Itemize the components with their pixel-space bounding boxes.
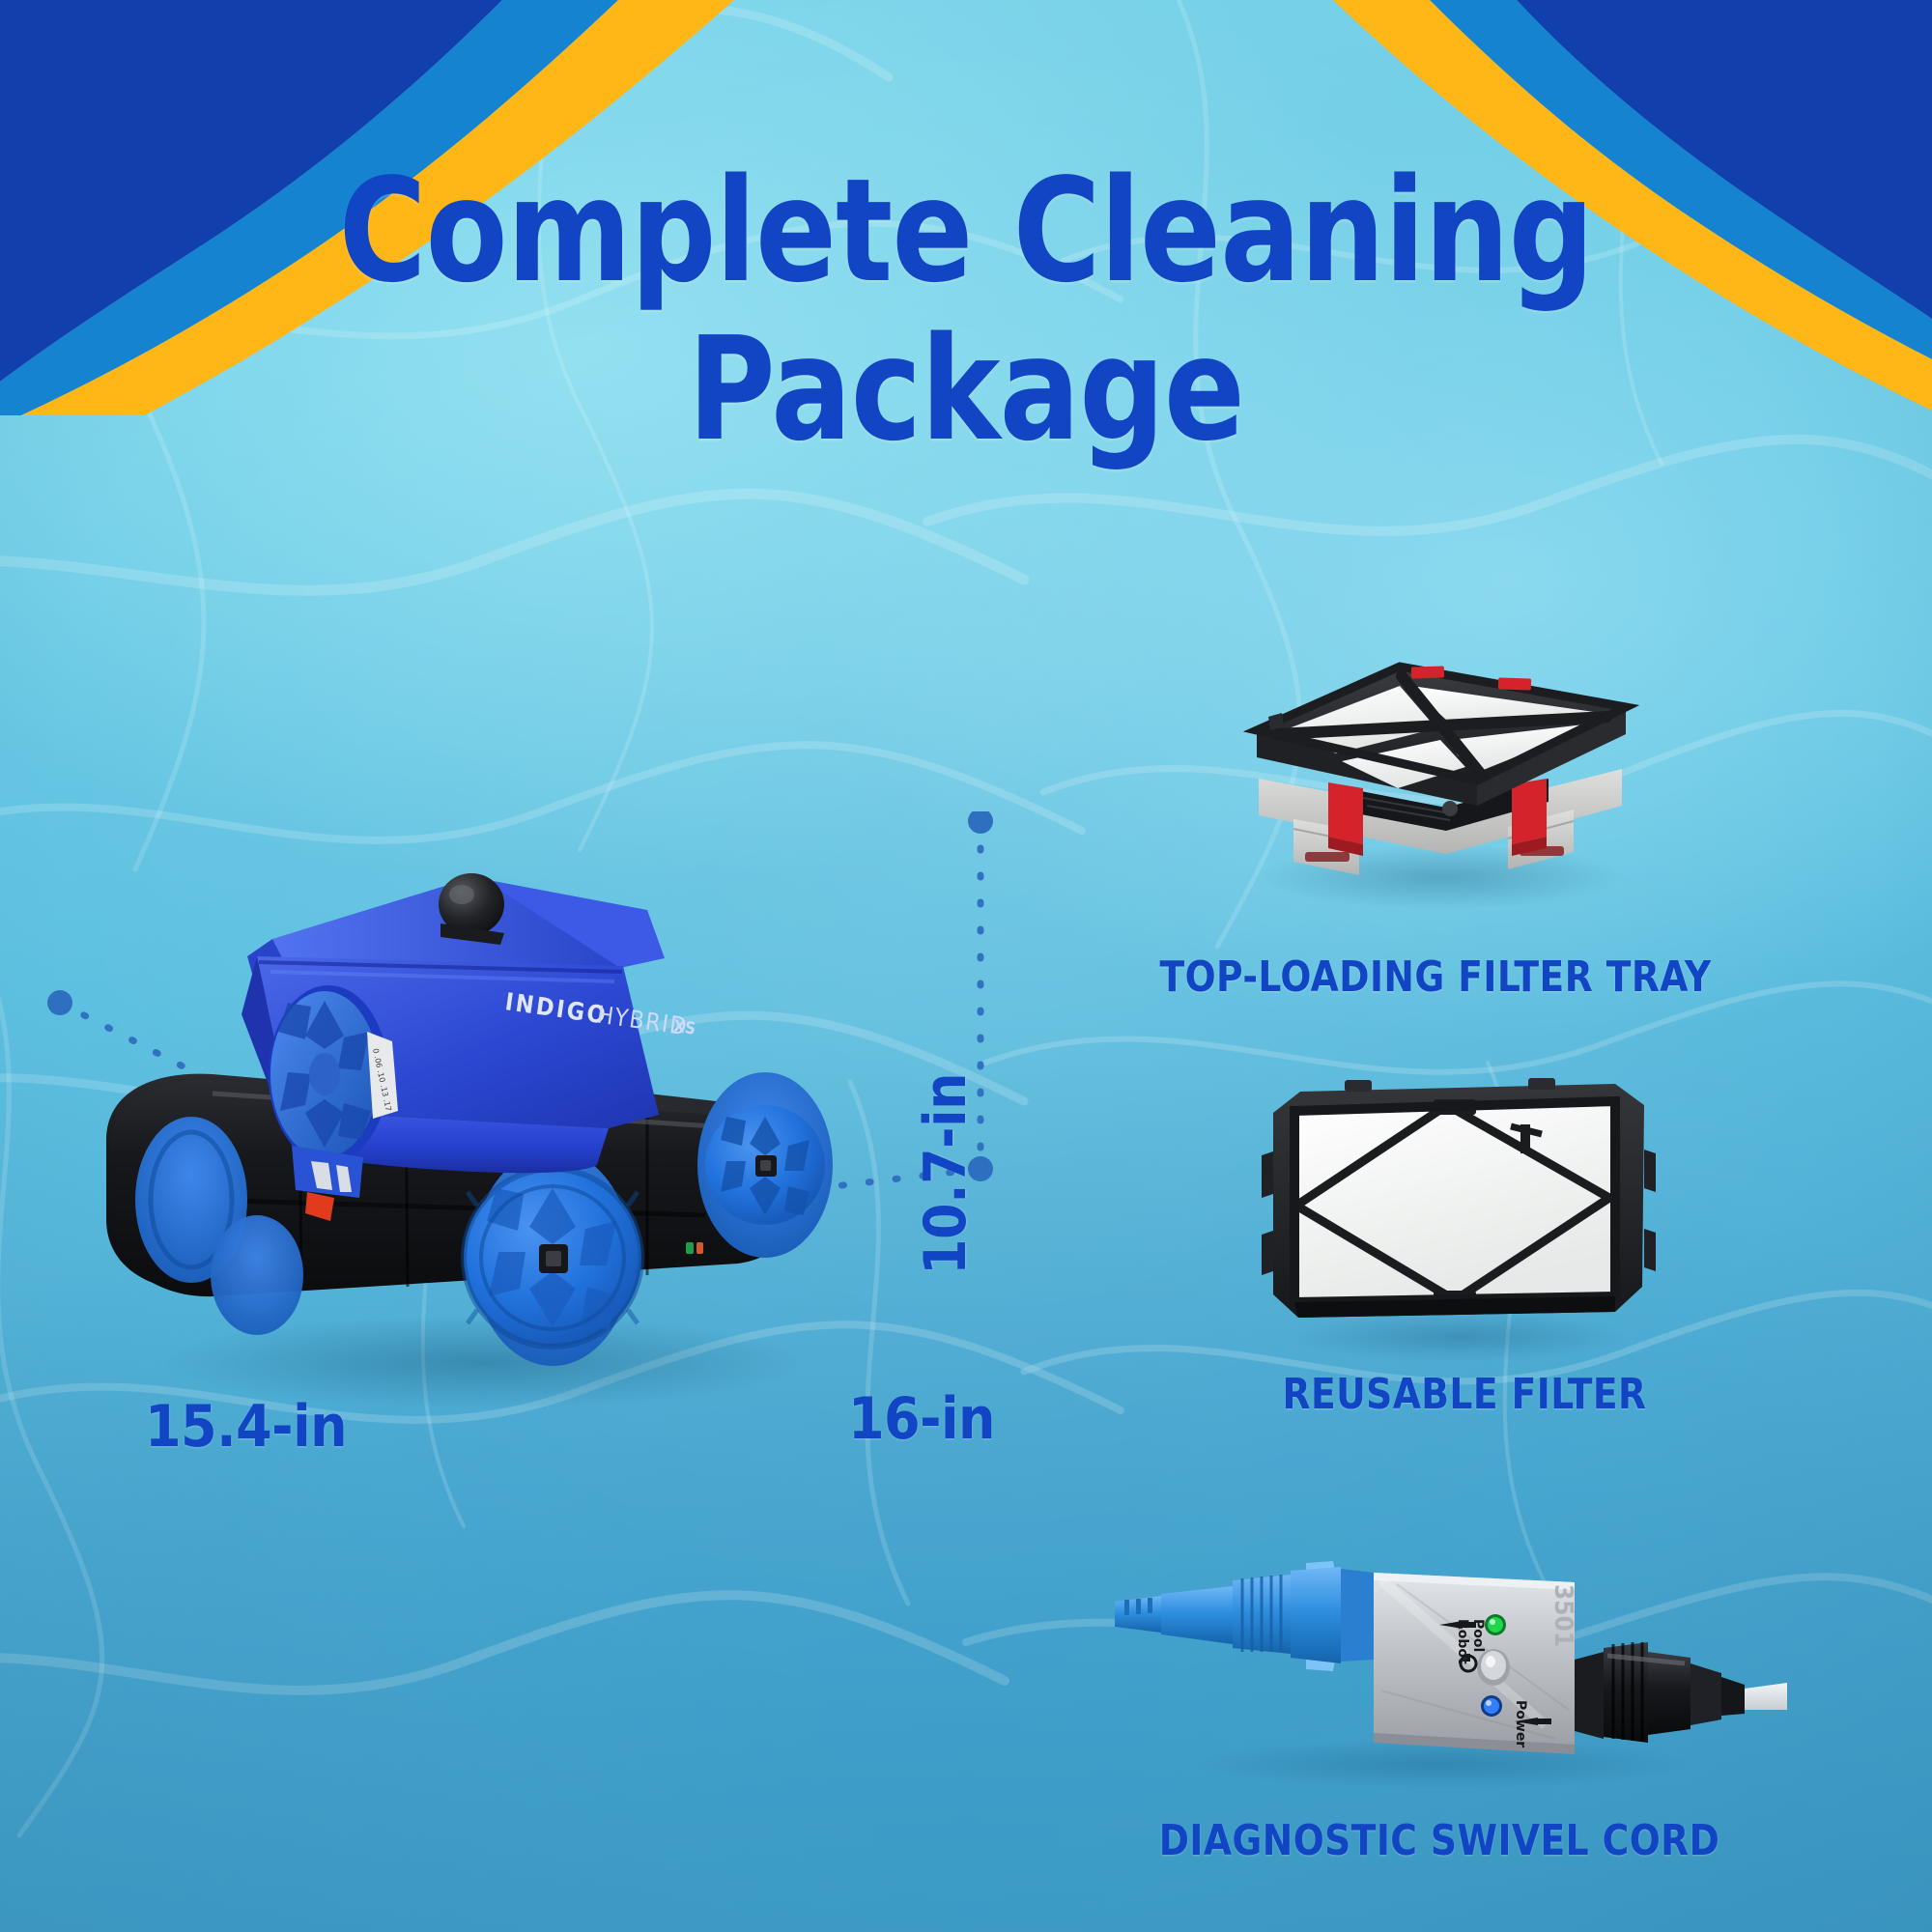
page-title: Complete Cleaning Package xyxy=(68,159,1864,461)
accessory-label-filter-tray: TOP-LOADING FILTER TRAY xyxy=(1159,952,1711,1002)
accessory-reusable-filter xyxy=(1256,1063,1662,1362)
robot-wheel-rear-right xyxy=(697,1072,833,1258)
page-title-line-1: Complete Cleaning xyxy=(68,159,1864,302)
accessory-swivel-cord: 3501 Pool Robot xyxy=(1092,1555,1787,1797)
swivel-cord-led-power xyxy=(1484,1698,1499,1714)
svg-text:XS: XS xyxy=(672,1017,696,1039)
swivel-cord-blue-connector xyxy=(1115,1561,1374,1671)
swivel-cord-housing: 3501 Pool Robot xyxy=(1374,1573,1577,1754)
tray-clip-left xyxy=(1328,782,1363,844)
swivel-cord-port-label-power: Power xyxy=(1513,1700,1528,1747)
robot-wheel-front-left xyxy=(211,1215,303,1335)
tray-clip-right xyxy=(1512,779,1547,844)
swivel-cord-model-code: 3501 xyxy=(1548,1584,1577,1647)
accessory-label-swivel-cord: DIAGNOSTIC SWIVEL CORD xyxy=(1159,1816,1720,1865)
robot-top-knob xyxy=(439,873,504,945)
svg-text:Power: Power xyxy=(1513,1700,1528,1747)
robot-pool-cleaner: INDIGO HYBRID XS xyxy=(68,821,918,1420)
product-infographic: Complete Cleaning Package 15.4-in 16-in … xyxy=(0,0,1932,1932)
page-title-line-2: Package xyxy=(68,318,1864,461)
swivel-cord-black-connector xyxy=(1575,1642,1787,1743)
robot-rear-connector xyxy=(682,1238,707,1258)
svg-text:Pool: Pool xyxy=(1470,1619,1486,1652)
swivel-cord-led-pool-robot xyxy=(1488,1617,1503,1633)
reusable-filter-media xyxy=(1294,1101,1615,1302)
accessory-label-reusable-filter: REUSABLE FILTER xyxy=(1283,1370,1647,1419)
accessory-filter-tray xyxy=(1222,570,1657,927)
dimension-label-height: 10.7-in xyxy=(912,1073,980,1275)
